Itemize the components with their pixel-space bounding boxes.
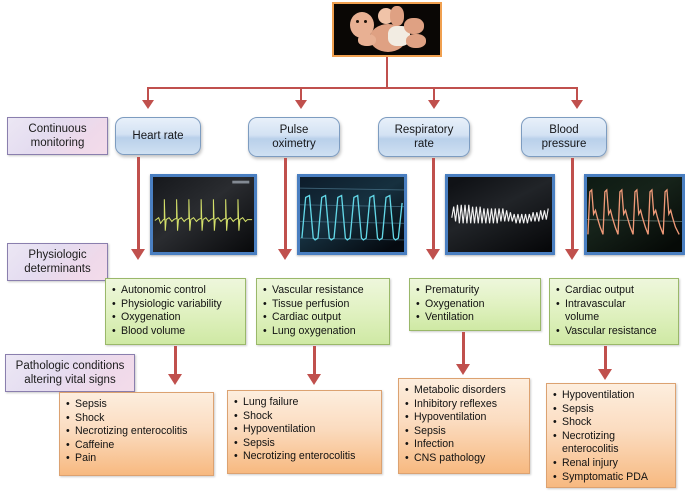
determinants-box-heart-rate: Autonomic control Physiologic variabilit…	[105, 278, 246, 345]
vital-box-blood-pressure[interactable]: Blood pressure	[521, 117, 607, 157]
monitor-pleth-waveform	[297, 174, 407, 255]
branch-bar	[148, 87, 578, 89]
branch-line-respiratory-rate	[433, 87, 435, 101]
list-item: Caffeine	[66, 439, 209, 453]
list-item: Physiologic variability	[112, 298, 241, 312]
connector-blood-pressure-to-monitor	[571, 158, 574, 184]
list-item: Metabolic disorders	[405, 384, 525, 398]
connector-monitor-to-determinants-respiratory-rate	[432, 184, 435, 250]
branch-line-pulse-oximetry	[300, 87, 302, 101]
pathologies-box-heart-rate: Sepsis Shock Necrotizing enterocolitis C…	[59, 392, 214, 476]
determinants-box-blood-pressure: Cardiac output Intravascular volume Vasc…	[549, 278, 679, 345]
branch-arrow-respiratory-rate	[428, 100, 440, 109]
arrow-determinants-heart-rate	[131, 249, 145, 260]
list-item: Intravascular	[556, 298, 674, 312]
pathologies-list-pulse-oximetry: Lung failure Shock Hypoventilation Sepsi…	[234, 396, 377, 464]
list-item: Inhibitory reflexes	[405, 398, 525, 412]
arrow-determinants-blood-pressure	[565, 249, 579, 260]
connector-determinants-to-pathologies-heart-rate	[174, 346, 177, 375]
respiration-trace	[448, 177, 552, 252]
determinants-list-heart-rate: Autonomic control Physiologic variabilit…	[112, 284, 241, 338]
branch-arrow-blood-pressure	[571, 100, 583, 109]
vital-label-line1: Blood	[549, 124, 578, 136]
list-item: Sepsis	[405, 425, 525, 439]
pathologies-list-respiratory-rate: Metabolic disorders Inhibitory reflexes …	[405, 384, 525, 466]
connector-pulse-oximetry-to-monitor	[284, 158, 287, 184]
list-item: Hypoventilation	[234, 423, 377, 437]
list-item: CNS pathology	[405, 452, 525, 466]
list-item: Lung failure	[234, 396, 377, 410]
determinants-list-respiratory-rate: Prematurity Oxygenation Ventilation	[416, 284, 536, 325]
list-item: Sepsis	[66, 398, 209, 412]
arrow-pathologies-pulse-oximetry	[307, 374, 321, 385]
connector-determinants-to-pathologies-pulse-oximetry	[313, 346, 316, 375]
monitor-respiration-waveform	[445, 174, 555, 255]
row-label-physiologic-determinants: Physiologic determinants	[7, 243, 108, 281]
arrow-pathologies-heart-rate	[168, 374, 182, 385]
infant-illustration	[334, 4, 440, 55]
list-item: Blood volume	[112, 325, 241, 339]
list-item: Ventilation	[416, 311, 536, 325]
list-item: Sepsis	[553, 403, 671, 417]
branch-arrow-pulse-oximetry	[295, 100, 307, 109]
list-item-continuation: enterocolitis	[553, 443, 671, 457]
connector-monitor-to-determinants-heart-rate	[137, 184, 140, 250]
row-label-line1: Pathologic conditions	[16, 360, 125, 372]
connector-monitor-to-determinants-pulse-oximetry	[284, 184, 287, 250]
list-item: Symptomatic PDA	[553, 471, 671, 485]
row-label-line1: Continuous	[28, 123, 86, 135]
branch-arrow-heart-rate	[142, 100, 154, 109]
list-item: Vascular resistance	[556, 325, 674, 339]
vital-box-respiratory-rate[interactable]: Respiratory rate	[378, 117, 470, 157]
list-item: Shock	[66, 412, 209, 426]
determinants-list-pulse-oximetry: Vascular resistance Tissue perfusion Car…	[263, 284, 385, 338]
connector-heart-rate-to-monitor	[137, 157, 140, 184]
vital-box-pulse-oximetry[interactable]: Pulse oximetry	[248, 117, 340, 157]
list-item: Oxygenation	[112, 311, 241, 325]
vital-label-line2: oximetry	[272, 138, 315, 150]
branch-line-blood-pressure	[576, 87, 578, 101]
list-item: Renal injury	[553, 457, 671, 471]
list-item: Necrotizing enterocolitis	[66, 425, 209, 439]
connector-respiratory-rate-to-monitor	[432, 158, 435, 184]
list-item: Tissue perfusion	[263, 298, 385, 312]
pathologies-list-blood-pressure: Hypoventilation Sepsis Shock Necrotizing…	[553, 389, 671, 484]
vital-label-line1: Heart rate	[132, 130, 183, 142]
determinants-box-pulse-oximetry: Vascular resistance Tissue perfusion Car…	[256, 278, 390, 345]
row-label-continuous-monitoring: Continuous monitoring	[7, 117, 108, 155]
list-item: Infection	[405, 438, 525, 452]
pathologies-box-respiratory-rate: Metabolic disorders Inhibitory reflexes …	[398, 378, 530, 474]
list-item: Cardiac output	[556, 284, 674, 298]
arrow-determinants-respiratory-rate	[426, 249, 440, 260]
vital-label-line2: rate	[414, 138, 434, 150]
list-item: Prematurity	[416, 284, 536, 298]
list-item: Lung oxygenation	[263, 325, 385, 339]
list-item: Autonomic control	[112, 284, 241, 298]
pathologies-box-pulse-oximetry: Lung failure Shock Hypoventilation Sepsi…	[227, 390, 382, 474]
trunk-line	[386, 57, 388, 88]
pleth-trace	[300, 177, 404, 252]
arrow-determinants-pulse-oximetry	[278, 249, 292, 260]
list-item: Oxygenation	[416, 298, 536, 312]
list-item: Hypoventilation	[405, 411, 525, 425]
pathologies-list-heart-rate: Sepsis Shock Necrotizing enterocolitis C…	[66, 398, 209, 466]
monitor-ecg-waveform	[150, 174, 257, 255]
determinants-list-blood-pressure: Cardiac output Intravascular volume Vasc…	[556, 284, 674, 338]
list-item: Sepsis	[234, 437, 377, 451]
row-label-pathologic-conditions: Pathologic conditions altering vital sig…	[5, 354, 135, 392]
vital-label-line1: Respiratory	[395, 124, 454, 136]
diagram-canvas: Continuous monitoring Physiologic determ…	[0, 0, 685, 491]
monitor-arterial-pressure-waveform	[584, 174, 685, 255]
vital-label-line1: Pulse	[280, 124, 309, 136]
row-label-line1: Physiologic	[28, 249, 86, 261]
pathologies-box-blood-pressure: Hypoventilation Sepsis Shock Necrotizing…	[546, 383, 676, 488]
connector-monitor-to-determinants-blood-pressure	[571, 184, 574, 250]
list-item: Shock	[234, 410, 377, 424]
row-label-line2: determinants	[24, 263, 90, 275]
list-item: Cardiac output	[263, 311, 385, 325]
list-item: Necrotizing	[553, 430, 671, 444]
list-item: Pain	[66, 452, 209, 466]
row-label-line2: monitoring	[31, 137, 85, 149]
list-item-continuation: volume	[556, 311, 674, 325]
arrow-pathologies-respiratory-rate	[456, 364, 470, 375]
list-item: Shock	[553, 416, 671, 430]
determinants-box-respiratory-rate: Prematurity Oxygenation Ventilation	[409, 278, 541, 331]
vital-box-heart-rate[interactable]: Heart rate	[115, 117, 201, 155]
list-item: Hypoventilation	[553, 389, 671, 403]
ecg-trace	[153, 177, 254, 252]
arterial-trace	[587, 177, 682, 252]
vital-label-line2: pressure	[542, 138, 587, 150]
connector-determinants-to-pathologies-respiratory-rate	[462, 332, 465, 365]
list-item: Necrotizing enterocolitis	[234, 450, 377, 464]
connector-determinants-to-pathologies-blood-pressure	[604, 346, 607, 370]
branch-line-heart-rate	[147, 87, 149, 101]
list-item: Vascular resistance	[263, 284, 385, 298]
row-label-line2: altering vital signs	[24, 374, 115, 386]
infant-photo	[332, 2, 442, 57]
arrow-pathologies-blood-pressure	[598, 369, 612, 380]
